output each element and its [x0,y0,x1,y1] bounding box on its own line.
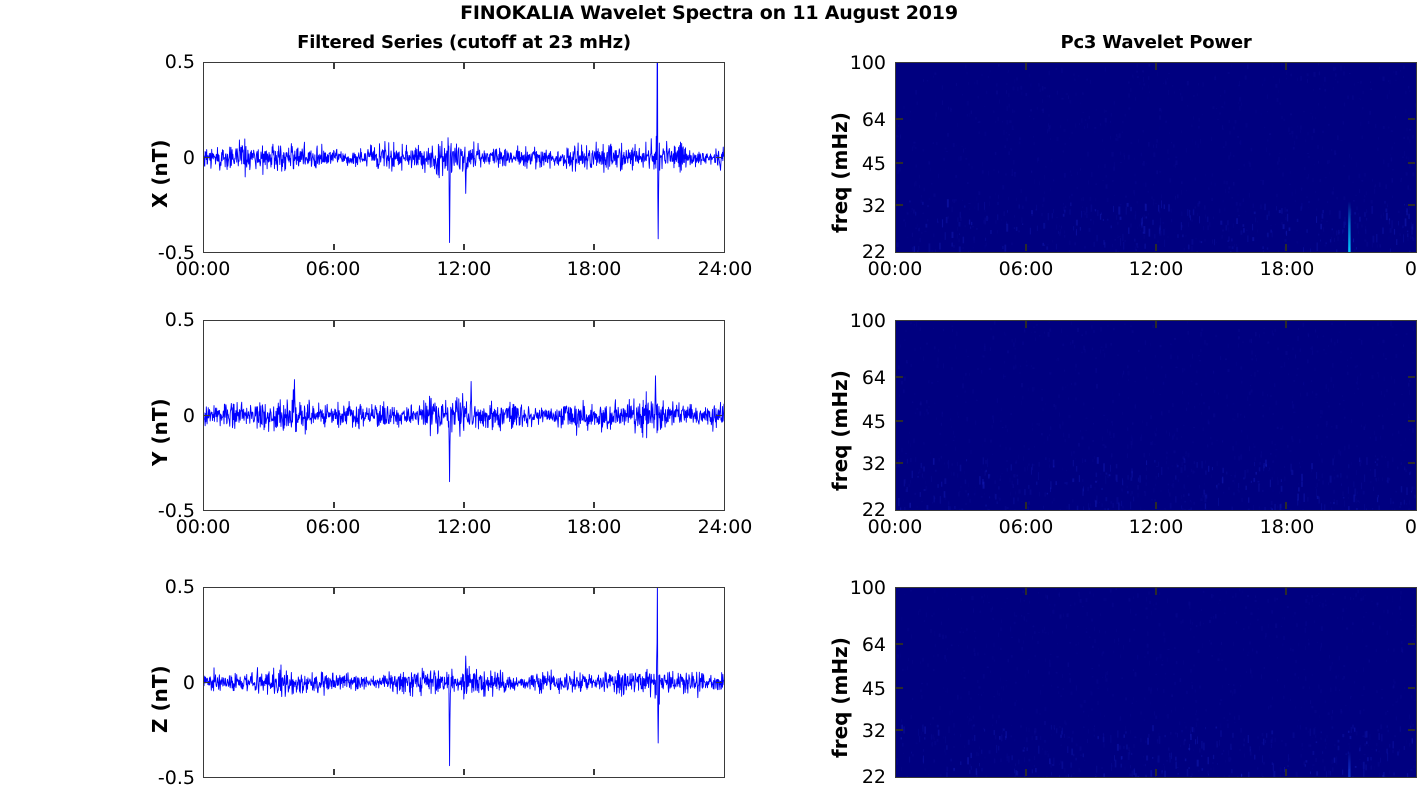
xtick-mark [333,63,335,69]
xtick-mark [333,502,335,508]
series-path [204,63,724,243]
xtick-mark [593,588,595,594]
timeseries-plot-y[interactable] [203,320,725,511]
ytick-right-r1-1: 64 [820,109,886,131]
xtick-left-r1-0: 00:00 [176,258,231,280]
xtick-mark [463,244,465,250]
xtick-mark [463,63,465,69]
ytick-mark [896,162,903,164]
xtick-mark [1285,769,1287,776]
ytick-right-r3-3: 32 [820,720,886,742]
series-path [204,376,724,482]
ytick-right-r1-3: 32 [820,195,886,217]
xtick-right-r1-0: 00:00 [868,258,923,280]
ytick-right-r2-2: 45 [820,411,886,433]
xtick-right-r2-1: 06:00 [999,516,1054,538]
xtick-mark [1025,588,1027,595]
xtick-mark [1155,244,1157,251]
ytick-mark [1408,420,1415,422]
xtick-mark [593,769,595,775]
ytick-mark [896,462,903,464]
wavelet-plot-x[interactable] [895,62,1417,253]
xtick-mark [333,244,335,250]
ytick-mark [716,415,722,417]
series-path-group [204,321,724,510]
xtick-mark [463,769,465,775]
ytick-mark [204,682,210,684]
ytick-mark [1408,204,1415,206]
xtick-mark [1285,244,1287,251]
timeseries-plot-z[interactable] [203,587,725,778]
ytick-right-r1-2: 45 [820,153,886,175]
right-column-title: Pc3 Wavelet Power [895,32,1417,53]
xtick-right-r2-2: 12:00 [1129,516,1184,538]
xtick-right-r2-4: 00 [1405,516,1418,538]
ytick-mark [896,687,903,689]
ytick-mark [896,204,903,206]
xtick-mark [1155,502,1157,509]
wavelet-plot-z[interactable] [895,587,1417,778]
xtick-mark [1025,769,1027,776]
ytick-mark [896,729,903,731]
timeseries-plot-x[interactable] [203,62,725,253]
wavelet-image [896,321,1416,510]
xtick-mark [1025,321,1027,328]
wavelet-image [896,63,1416,252]
ytick-mark [896,420,903,422]
ytick-mark [716,157,722,159]
ytick-left-r3-0: 0.5 [140,576,195,598]
xtick-left-r1-2: 12:00 [437,258,492,280]
xtick-mark [463,502,465,508]
ytick-right-r3-1: 64 [820,634,886,656]
ytick-left-r1-1: 0 [140,147,195,169]
xtick-mark [333,321,335,327]
ytick-mark [1408,462,1415,464]
xtick-right-r2-0: 00:00 [868,516,923,538]
xtick-mark [593,63,595,69]
xtick-mark [463,588,465,594]
xtick-mark [1155,63,1157,70]
xtick-mark [463,321,465,327]
ytick-mark [1408,687,1415,689]
ytick-mark [896,643,903,645]
xtick-left-r2-3: 18:00 [567,516,622,538]
wavelet-image [896,588,1416,777]
series-path-group [204,63,724,252]
wavelet-plot-y[interactable] [895,320,1417,511]
ytick-mark [1408,118,1415,120]
xtick-mark [333,588,335,594]
ytick-mark [716,682,722,684]
xtick-mark [1285,63,1287,70]
ytick-mark [1408,643,1415,645]
xtick-right-r2-3: 18:00 [1260,516,1315,538]
xtick-left-r2-1: 06:00 [306,516,361,538]
ytick-mark [204,157,210,159]
figure-suptitle: FINOKALIA Wavelet Spectra on 11 August 2… [0,2,1418,24]
xtick-mark [593,244,595,250]
xtick-right-r1-3: 18:00 [1260,258,1315,280]
xtick-left-r2-2: 12:00 [437,516,492,538]
xtick-mark [1155,321,1157,328]
ytick-left-r2-1: 0 [140,405,195,427]
ytick-right-r3-0: 100 [820,577,886,599]
xtick-mark [1155,769,1157,776]
series-path-group [204,588,724,777]
ytick-mark [1408,729,1415,731]
xtick-mark [333,769,335,775]
ytick-mark [1408,162,1415,164]
ytick-right-r2-3: 32 [820,453,886,475]
left-column-title: Filtered Series (cutoff at 23 mHz) [203,32,725,53]
xtick-mark [593,321,595,327]
ytick-mark [896,376,903,378]
xtick-mark [593,502,595,508]
ytick-right-r1-0: 100 [820,52,886,74]
xtick-mark [1155,588,1157,595]
xtick-mark [1285,502,1287,509]
ytick-left-r3-1: 0 [140,672,195,694]
xtick-mark [1285,321,1287,328]
ytick-mark [1408,376,1415,378]
xtick-left-r2-4: 24:00 [698,516,753,538]
series-path [204,588,724,766]
wavelet-power-streak [1348,201,1350,252]
xtick-left-r1-3: 18:00 [567,258,622,280]
ytick-mark [204,415,210,417]
xtick-right-r1-4: 00 [1405,258,1418,280]
ytick-left-r1-0: 0.5 [140,51,195,73]
xtick-right-r1-2: 12:00 [1129,258,1184,280]
xtick-mark [1285,588,1287,595]
ytick-right-r3-2: 45 [820,678,886,700]
ytick-right-r3-4: 22 [820,766,886,788]
ytick-right-r2-0: 100 [820,310,886,332]
ytick-mark [896,118,903,120]
wavelet-power-streak [1348,751,1350,777]
ytick-right-r2-1: 64 [820,367,886,389]
ytick-left-r3-2: -0.5 [132,767,195,789]
xtick-mark [1025,502,1027,509]
xtick-left-r1-1: 06:00 [306,258,361,280]
xtick-mark [1025,244,1027,251]
xtick-mark [1025,63,1027,70]
xtick-left-r1-4: 24:00 [698,258,753,280]
ytick-left-r2-0: 0.5 [140,309,195,331]
xtick-left-r2-0: 00:00 [176,516,231,538]
xtick-right-r1-1: 06:00 [999,258,1054,280]
